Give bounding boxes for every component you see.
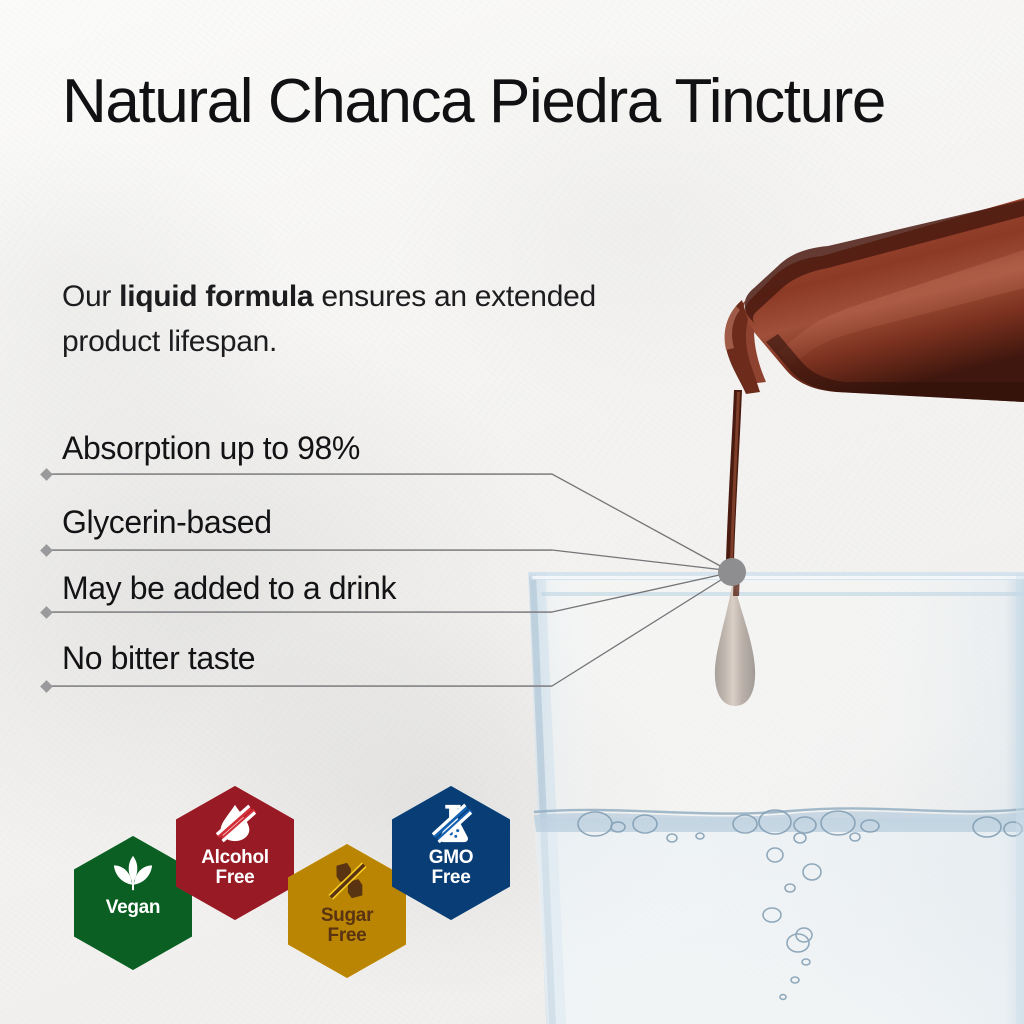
droplet-slash-icon bbox=[212, 802, 258, 844]
subtitle-prefix: Our bbox=[62, 280, 119, 313]
flask-slash-icon bbox=[428, 802, 474, 844]
badge-label-gmo-free: GMO Free bbox=[429, 848, 474, 888]
product-infographic: Natural Chanca Piedra Tincture Our liqui… bbox=[0, 0, 1024, 1024]
subtitle: Our liquid formula ensures an extended p… bbox=[62, 274, 622, 364]
badge-label-sugar-free: Sugar Free bbox=[321, 906, 373, 946]
subtitle-bold: liquid formula bbox=[119, 280, 313, 313]
amber-glass-dropper bbox=[724, 198, 1024, 596]
badge-label-alcohol-free: Alcohol Free bbox=[201, 848, 269, 888]
pointer-convergence-dot bbox=[718, 558, 746, 586]
leaf-icon bbox=[110, 852, 156, 894]
page-title: Natural Chanca Piedra Tincture bbox=[62, 64, 922, 141]
sugar-cubes-slash-icon bbox=[324, 860, 370, 902]
badge-label-vegan: Vegan bbox=[106, 898, 160, 918]
water-glass bbox=[520, 572, 1024, 1024]
